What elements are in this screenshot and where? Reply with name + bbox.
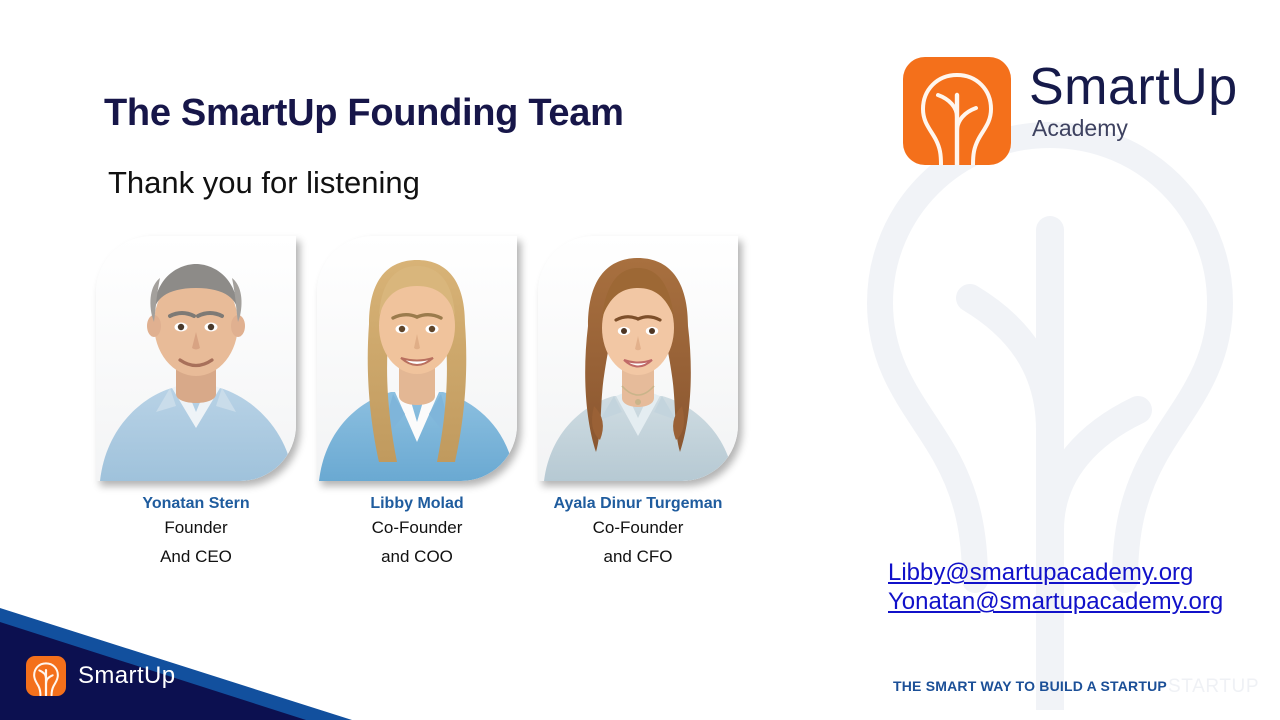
team-member-role-line2: and CFO (538, 542, 738, 571)
team-member-role-line1: Founder (96, 513, 296, 542)
avatar (317, 236, 517, 481)
team-member-name: Libby Molad (317, 495, 517, 513)
team-member-role-line2: And CEO (96, 542, 296, 571)
tagline: THE SMART WAY TO BUILD A STARTUP (893, 678, 1167, 694)
brand-logo: SmartUp Academy (903, 57, 1238, 165)
tagline-ghost-text: STARTUP (1168, 676, 1259, 698)
avatar (538, 236, 738, 481)
page-title: The SmartUp Founding Team (104, 92, 624, 135)
email-link-yonatan[interactable]: Yonatan@smartupacademy.org (888, 587, 1223, 616)
brand-subtitle: Academy (1032, 117, 1238, 140)
team-member-role-line1: Co-Founder (317, 513, 517, 542)
team-member: Libby Molad Co-Founder and COO (317, 236, 517, 571)
page-subtitle: Thank you for listening (108, 165, 420, 201)
team-member: Ayala Dinur Turgeman Co-Founder and CFO (538, 236, 738, 571)
email-link-libby[interactable]: Libby@smartupacademy.org (888, 558, 1223, 587)
team-member-name: Ayala Dinur Turgeman (538, 495, 738, 513)
contact-email-list: Libby@smartupacademy.org Yonatan@smartup… (888, 558, 1223, 617)
footer-logo: SmartUp (26, 656, 176, 696)
lightbulb-tree-icon (903, 57, 1011, 165)
brand-name: SmartUp (1029, 61, 1238, 113)
presentation-slide: The SmartUp Founding Team Thank you for … (0, 0, 1280, 720)
team-member: Yonatan Stern Founder And CEO (96, 236, 296, 571)
team-member-role-line1: Co-Founder (538, 513, 738, 542)
avatar (96, 236, 296, 481)
team-member-name: Yonatan Stern (96, 495, 296, 513)
team-member-role-line2: and COO (317, 542, 517, 571)
lightbulb-tree-icon (26, 656, 66, 696)
brand-wordmark: SmartUp Academy (1029, 61, 1238, 140)
footer-logo-text: SmartUp (78, 664, 176, 688)
lightbulb-tree-watermark-icon (820, 110, 1280, 710)
